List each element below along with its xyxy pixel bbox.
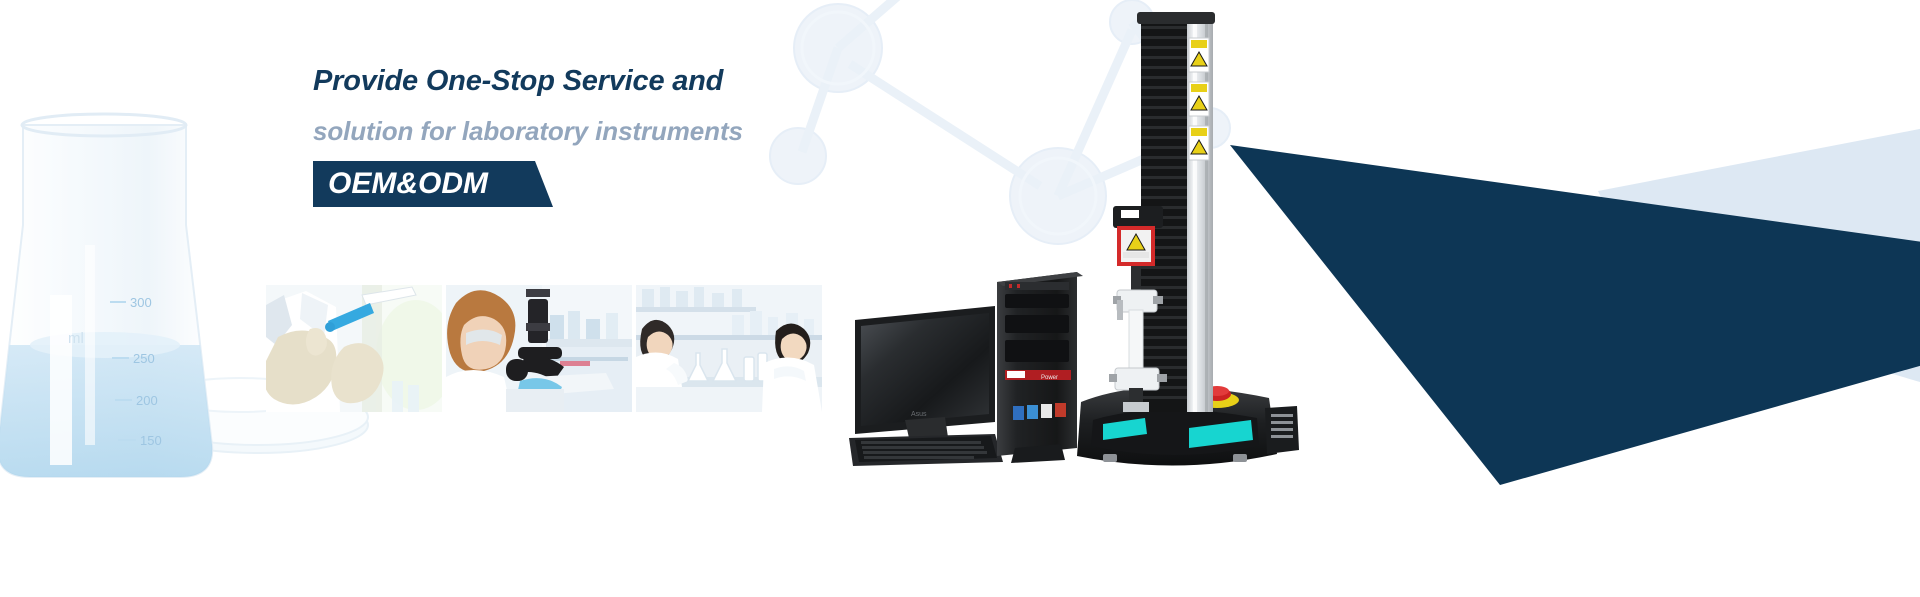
promo-banner: 300 250 200 150 ml Provide One-Stop Serv…: [0, 0, 1920, 597]
universal-tensile-testing-machine: [1077, 12, 1299, 466]
keyboard: [849, 434, 1003, 466]
emergency-stop-button: [1195, 386, 1239, 408]
warning-labels: [1189, 38, 1209, 160]
decorative-arrow-group: [1190, 95, 1920, 485]
oem-odm-tag-label: OEM&ODM: [328, 167, 488, 201]
monitor-brand-label: Asus: [911, 411, 927, 418]
dark-arrow-shape: [1230, 145, 1920, 485]
svg-text:250: 250: [133, 351, 155, 366]
oem-odm-tag: OEM&ODM: [313, 161, 553, 207]
upper-grip: [1113, 290, 1163, 320]
svg-text:150: 150: [140, 433, 162, 448]
svg-text:300: 300: [130, 295, 152, 310]
svg-text:ml: ml: [68, 330, 84, 347]
headline-line-2: solution for laboratory instruments: [313, 107, 933, 155]
os-sticker-badges: [1013, 403, 1066, 420]
svg-text:200: 200: [136, 393, 158, 408]
tower-brand-label: Power: [1041, 375, 1058, 381]
flask-graduation-marks: 300 250 200 150 ml: [68, 295, 162, 448]
base-accent-left: [1103, 418, 1147, 440]
desktop-monitor: Asus: [855, 306, 995, 457]
headline-line-1: Provide One-Stop Service and: [313, 57, 933, 105]
computer-tower: Power: [997, 272, 1083, 463]
light-arrow-shape: [1598, 127, 1920, 385]
pipetting-photo: [266, 285, 442, 412]
lower-grip: [1109, 368, 1167, 412]
microscope-photo: [446, 285, 632, 412]
lab-bench-photo: [636, 285, 822, 412]
headline-block: Provide One-Stop Service and solution fo…: [313, 57, 933, 207]
base-accent-right: [1189, 420, 1253, 448]
load-cell-assembly: [1113, 206, 1163, 290]
lab-photo-strip: [266, 285, 822, 412]
